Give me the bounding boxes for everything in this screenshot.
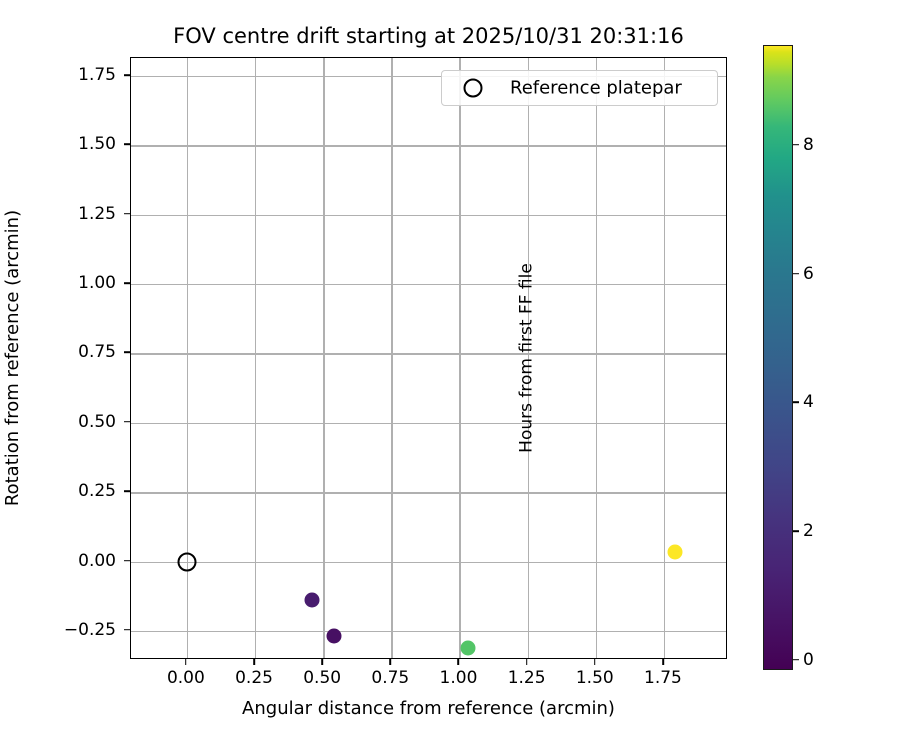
gridline-horizontal [131,492,726,493]
data-point [460,640,475,655]
y-tick-label: 1.75 [78,65,116,85]
page-title: FOV centre drift starting at 2025/10/31 … [130,24,727,48]
colorbar-tick-label: 4 [803,392,814,412]
legend: Reference platepar [441,70,718,106]
y-tick [124,490,130,492]
gridline-vertical [391,58,392,658]
y-tick-label: 0.75 [78,342,116,362]
x-tick-label: 1.75 [644,668,682,688]
y-tick-label: 1.00 [78,273,116,293]
colorbar-tick [793,273,799,275]
y-tick-label: 0.50 [78,412,116,432]
x-tick-label: 0.00 [167,668,205,688]
chart-figure: FOV centre drift starting at 2025/10/31 … [0,0,900,750]
x-tick [185,659,187,665]
x-tick-label: 1.50 [576,668,614,688]
y-tick-label: 0.25 [78,481,116,501]
x-tick [390,659,392,665]
gridline-vertical [255,58,256,658]
gridline-horizontal [131,284,726,285]
gridline-vertical [664,58,665,658]
colorbar [763,45,793,670]
colorbar-label: Hours from first FF file [515,46,539,671]
y-tick [124,282,130,284]
y-tick-label: 0.00 [78,551,116,571]
y-tick [124,144,130,146]
x-tick [594,659,596,665]
colorbar-tick [793,401,799,403]
gridline-horizontal [131,631,726,632]
x-tick-label: 1.00 [440,668,478,688]
y-tick-label: 1.25 [78,204,116,224]
colorbar-tick-label: 6 [803,264,814,284]
colorbar-tick-label: 0 [803,650,814,670]
reference-platepar-marker-icon [464,79,483,98]
gridline-horizontal [131,562,726,563]
y-tick [124,74,130,76]
x-tick-label: 0.25 [235,668,273,688]
y-tick-label: −0.25 [64,620,116,640]
x-tick-label: 1.25 [508,668,546,688]
y-tick [124,629,130,631]
y-tick-label: 1.50 [78,134,116,154]
colorbar-tick-label: 8 [803,135,814,155]
gridline-vertical [459,58,460,658]
x-axis-label: Angular distance from reference (arcmin) [130,698,727,719]
reference-platepar-marker [177,552,196,571]
gridline-horizontal [131,423,726,424]
plot-area [130,57,727,659]
gridline-vertical [596,58,597,658]
gridline-vertical [323,58,324,658]
y-tick [124,213,130,215]
gridline-horizontal [131,145,726,146]
y-axis-label: Rotation from reference (arcmin) [0,57,26,659]
x-tick [458,659,460,665]
colorbar-tick [793,144,799,146]
y-tick [124,421,130,423]
x-tick [253,659,255,665]
y-tick [124,352,130,354]
y-tick [124,560,130,562]
colorbar-tick [793,659,799,661]
x-tick-label: 0.75 [371,668,409,688]
data-point [667,544,682,559]
data-point [305,593,320,608]
x-tick [321,659,323,665]
gridline-horizontal [131,353,726,354]
x-tick [662,659,664,665]
data-point [327,629,342,644]
colorbar-tick-label: 2 [803,521,814,541]
gridline-horizontal [131,215,726,216]
colorbar-tick [793,530,799,532]
x-tick-label: 0.50 [303,668,341,688]
